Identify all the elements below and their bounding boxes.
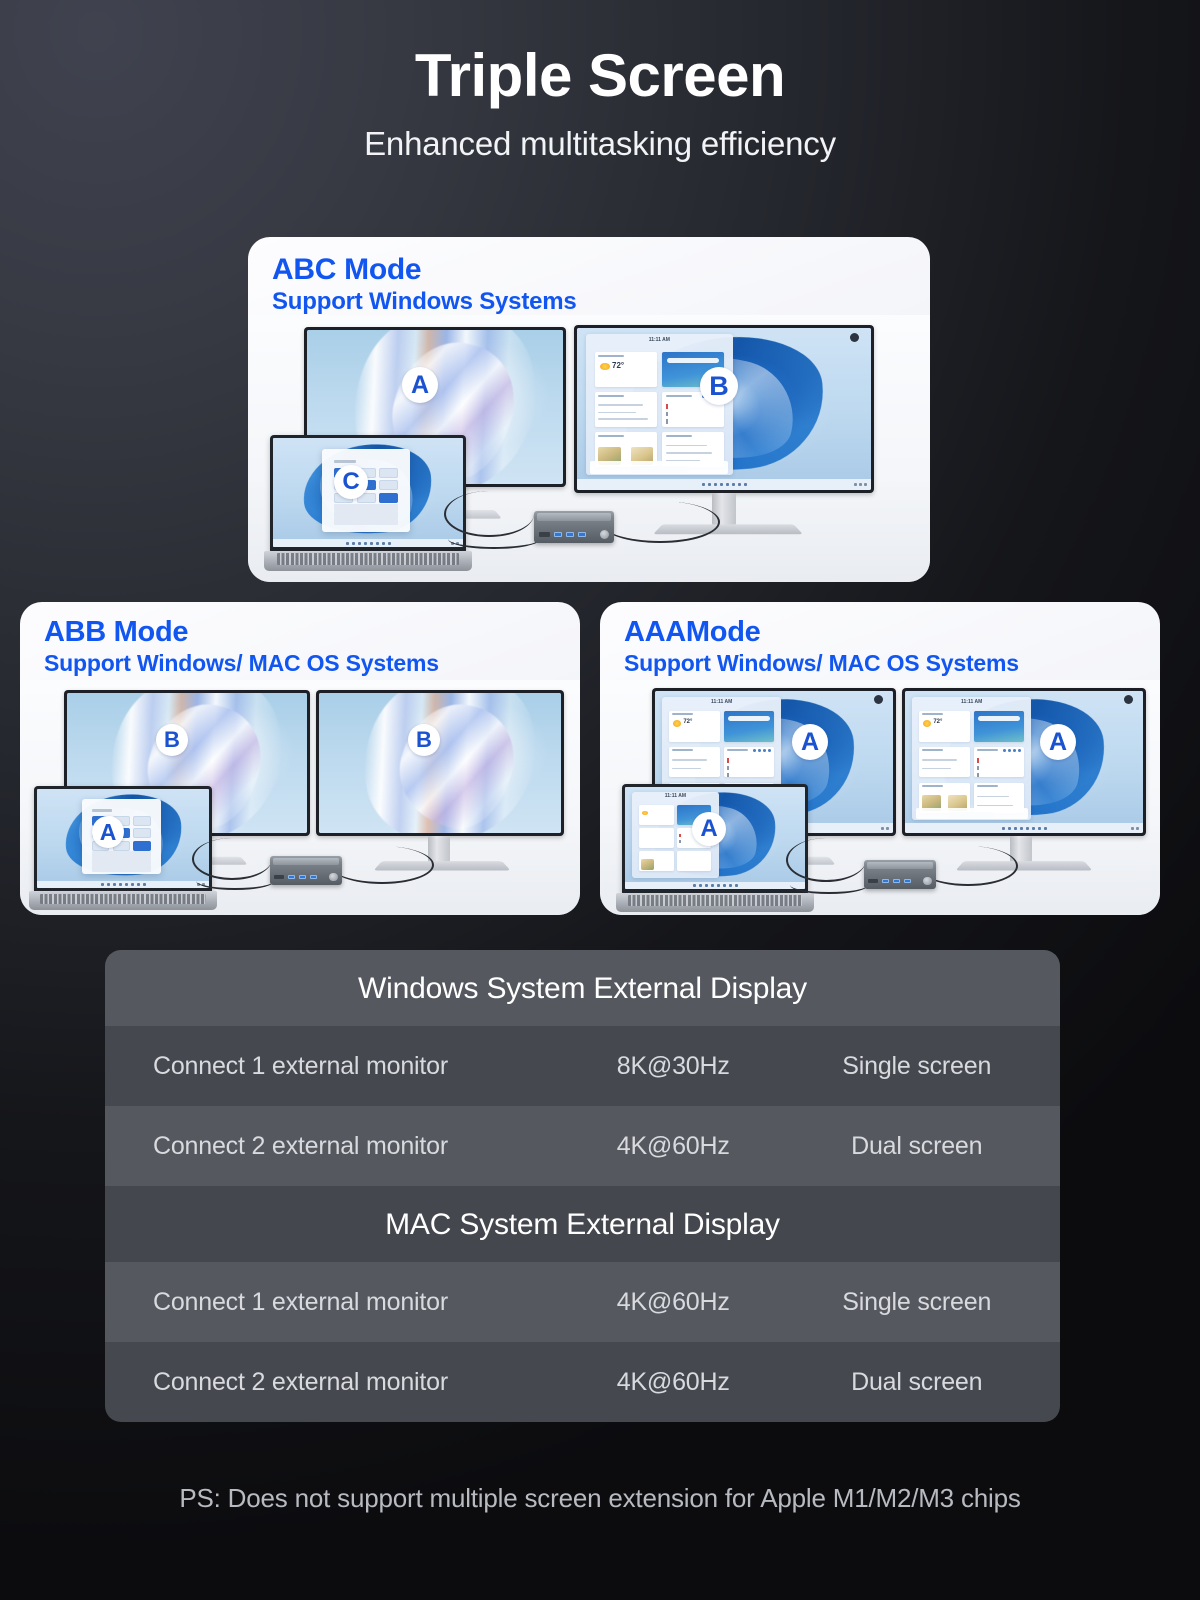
widget-column-left [639, 805, 674, 871]
laptop-keyboard[interactable] [277, 553, 460, 564]
cell-resolution: 4K@60Hz [573, 1132, 774, 1161]
mode-title-abb: ABB Mode [44, 616, 188, 649]
widget-line [922, 759, 957, 761]
widget-line [672, 768, 701, 770]
sun-icon [923, 720, 931, 727]
usb-port-icon [566, 532, 574, 537]
cell-mode: Single screen [773, 1052, 1060, 1081]
status-dots-icon [753, 749, 771, 752]
cell-connection: Connect 2 external monitor [105, 1132, 573, 1161]
widget-clock: 11:11 AM [586, 337, 733, 343]
mode-card-abb[interactable]: ABB Mode Support Windows/ MAC OS Systems… [20, 602, 580, 915]
laptop-keyboard[interactable] [40, 894, 206, 904]
mode-title-aaa: AAAMode [624, 616, 760, 649]
cable-right [330, 846, 434, 884]
laptop-lid [34, 786, 212, 893]
widget-line [666, 452, 712, 454]
widget-heading [598, 435, 624, 437]
widget-line [598, 412, 635, 414]
mode-illustration-aaa: 11:11 AM 72° [600, 680, 1160, 915]
mode-title-abc: ABC Mode [272, 253, 421, 287]
cell-connection: Connect 1 external monitor [105, 1288, 573, 1317]
widget-clock: 11:11 AM [632, 793, 718, 799]
page-subtitle: Enhanced multitasking efficiency [0, 125, 1200, 163]
screen-badge-a-right: A [1040, 724, 1076, 760]
taskbar-tray[interactable] [854, 483, 867, 486]
cell-mode: Dual screen [773, 1368, 1060, 1397]
header: Triple Screen Enhanced multitasking effi… [0, 44, 1200, 163]
sd-card-slot-icon [868, 879, 878, 884]
mode-card-abc[interactable]: ABC Mode Support Windows Systems A [248, 237, 930, 582]
monitor-screen: 11:11 AM 72° [905, 691, 1143, 833]
widget-stocks [595, 392, 657, 426]
laptop-base [29, 891, 218, 910]
dock-ports [868, 877, 931, 885]
monitor-screen [319, 693, 561, 833]
taskbar-tray[interactable] [1131, 827, 1139, 830]
widget-line [977, 796, 1009, 798]
widget-news-footer [590, 461, 728, 474]
usb-port-icon [578, 532, 586, 537]
usb-port-icon [882, 879, 889, 883]
widget-clock: 11:11 AM [662, 699, 781, 705]
monitor-right-abc: 11:11 AM 72° [574, 325, 874, 493]
widget-weather: 72° [669, 711, 719, 742]
docking-station [864, 860, 936, 889]
laptop-aaa: 11:11 AM [622, 784, 808, 912]
docking-station [270, 856, 342, 885]
cell-resolution: 8K@30Hz [573, 1052, 774, 1081]
screen-badge-a: A [92, 816, 124, 848]
search-input[interactable] [978, 716, 1020, 721]
widget-news-footer [916, 808, 1028, 819]
table-row: Connect 2 external monitor 4K@60Hz Dual … [105, 1342, 1060, 1422]
mode-subtitle-abb: Support Windows/ MAC OS Systems [44, 650, 439, 677]
page-title: Triple Screen [0, 44, 1200, 109]
table-row: Connect 1 external monitor 8K@30Hz Singl… [105, 1026, 1060, 1106]
widget-photos [639, 851, 674, 871]
poster-background: Triple Screen Enhanced multitasking effi… [0, 0, 1200, 1600]
widget-heading [666, 395, 692, 397]
mode-subtitle-aaa: Support Windows/ MAC OS Systems [624, 650, 1019, 677]
screen-badge-a: A [402, 367, 438, 403]
mode-subtitle-abc: Support Windows Systems [272, 288, 577, 316]
screen-badge-c: C [334, 465, 368, 499]
screen-badge-a-laptop: A [692, 812, 726, 846]
cell-connection: Connect 2 external monitor [105, 1368, 573, 1397]
panel-heading [92, 809, 112, 812]
monitor-screen: 11:11 AM 72° [577, 328, 871, 490]
calendar-item [977, 766, 1021, 770]
widget-temperature: 72° [612, 361, 624, 370]
calendar-item [727, 758, 771, 762]
audio-port-icon [923, 877, 931, 885]
usb-port-icon [893, 879, 900, 883]
widget-calendar [974, 747, 1024, 778]
sun-icon [673, 720, 681, 727]
dock-body [864, 860, 936, 889]
panel-list [334, 504, 399, 525]
widget-heading [922, 749, 943, 751]
dock-body [270, 856, 342, 885]
widget-heading [977, 785, 998, 787]
table-row: Connect 2 external monitor 4K@60Hz Dual … [105, 1106, 1060, 1186]
widget-heading [977, 749, 998, 751]
cell-mode: Dual screen [773, 1132, 1060, 1161]
mode-card-aaa[interactable]: AAAMode Support Windows/ MAC OS Systems … [600, 602, 1160, 915]
usb-port-icon [288, 875, 295, 879]
laptop-abb [34, 786, 212, 910]
dock-ports [274, 873, 337, 881]
widget-stocks [919, 747, 969, 778]
laptop-lid [270, 435, 466, 552]
taskbar[interactable] [625, 882, 805, 889]
search-input[interactable] [667, 358, 719, 363]
audio-port-icon [329, 873, 337, 881]
laptop-base [264, 551, 472, 571]
laptop-abc [270, 435, 466, 571]
laptop-screen [273, 438, 463, 547]
panel-list [92, 851, 150, 872]
dock-body [534, 511, 614, 543]
docking-station [534, 511, 614, 543]
photo-thumbnail-icon [641, 859, 654, 869]
sd-card-slot-icon [274, 875, 284, 880]
widget-line [672, 759, 707, 761]
widget-calendar [724, 747, 774, 778]
cell-resolution: 4K@60Hz [573, 1288, 774, 1317]
widget-heading [922, 713, 943, 715]
widget-stocks [639, 828, 674, 848]
widget-line [598, 418, 648, 420]
widget-temperature: 72° [933, 719, 942, 725]
widget-weather: 72° [595, 352, 657, 386]
widget-line [977, 805, 1013, 807]
sun-icon [642, 811, 648, 815]
widgets-board: 11:11 AM 72° [912, 697, 1031, 821]
widget-tasks [677, 851, 712, 871]
audio-port-icon [600, 530, 609, 539]
dock-top-panel [537, 513, 611, 521]
footnote: PS: Does not support multiple screen ext… [0, 1483, 1200, 1514]
taskbar[interactable] [273, 539, 463, 547]
spec-section-heading-windows: Windows System External Display [105, 950, 1060, 1026]
usb-port-icon [310, 875, 317, 879]
taskbar-tray[interactable] [881, 827, 889, 830]
widget-heading [922, 785, 943, 787]
cable-laptop [790, 876, 868, 894]
widget-weather [639, 805, 674, 825]
usb-port-icon [904, 879, 911, 883]
widgets-board: 11:11 AM 72° [586, 334, 733, 475]
spec-section-heading-mac: MAC System External Display [105, 1186, 1060, 1262]
search-input[interactable] [728, 716, 770, 721]
widget-line [666, 445, 707, 447]
calendar-item [666, 404, 721, 409]
widget-search [974, 711, 1024, 742]
laptop-base [616, 893, 813, 912]
calendar-item [666, 412, 721, 417]
mode-illustration-abb: B B [20, 680, 580, 915]
widget-search [724, 711, 774, 742]
cell-mode: Single screen [773, 1288, 1060, 1317]
laptop-screen [37, 789, 209, 888]
taskbar[interactable] [905, 823, 1143, 833]
widget-heading [727, 749, 748, 751]
monitor-right-aaa: 11:11 AM 72° [902, 688, 1146, 836]
widget-heading [666, 435, 692, 437]
calendar-item [977, 758, 1021, 762]
calendar-item [977, 773, 1021, 777]
widget-stocks [669, 747, 719, 778]
widget-line [922, 768, 951, 770]
table-row: Connect 1 external monitor 4K@60Hz Singl… [105, 1262, 1060, 1342]
widget-column-left: 72° [595, 352, 657, 466]
widget-weather: 72° [919, 711, 969, 742]
taskbar[interactable] [37, 881, 209, 888]
usb-port-icon [554, 532, 562, 537]
mode-illustration-abc: A 11:11 AM 72° [248, 315, 930, 582]
widget-heading [598, 395, 624, 397]
widget-temperature: 72° [683, 719, 692, 725]
cable-laptop [448, 529, 540, 549]
cell-connection: Connect 1 external monitor [105, 1052, 573, 1081]
sun-icon [600, 363, 610, 371]
screen-badge-b: B [700, 367, 738, 405]
cable-laptop [196, 872, 274, 890]
screen-badge-b-right: B [408, 724, 440, 756]
monitor-right-abb [316, 690, 564, 836]
sd-card-slot-icon [539, 532, 550, 537]
dock-top-panel [867, 862, 933, 870]
status-dots-icon [1003, 749, 1021, 752]
widget-heading [672, 713, 693, 715]
widget-heading [598, 355, 624, 357]
widget-row: 72° [919, 711, 1024, 813]
cell-resolution: 4K@60Hz [573, 1368, 774, 1397]
widget-line [598, 404, 643, 406]
calendar-item [727, 773, 771, 777]
spec-table: Windows System External Display Connect … [105, 950, 1060, 1422]
cable-right [600, 501, 720, 543]
usb-port-icon [299, 875, 306, 879]
widget-clock: 11:11 AM [912, 699, 1031, 705]
screen-badge-b-left: B [156, 724, 188, 756]
screen-badge-a-left: A [792, 724, 828, 760]
taskbar[interactable] [577, 479, 871, 490]
calendar-item [727, 766, 771, 770]
panel-heading [334, 460, 356, 463]
laptop-keyboard[interactable] [628, 895, 802, 906]
calendar-item [666, 419, 721, 424]
widget-row: 72° [595, 352, 724, 466]
wallpaper-ribbon-icon [319, 693, 561, 833]
dock-top-panel [273, 858, 339, 866]
widget-column-right [974, 711, 1024, 813]
dock-ports [539, 530, 609, 538]
widget-column-left: 72° [919, 711, 969, 813]
widget-heading [672, 749, 693, 751]
